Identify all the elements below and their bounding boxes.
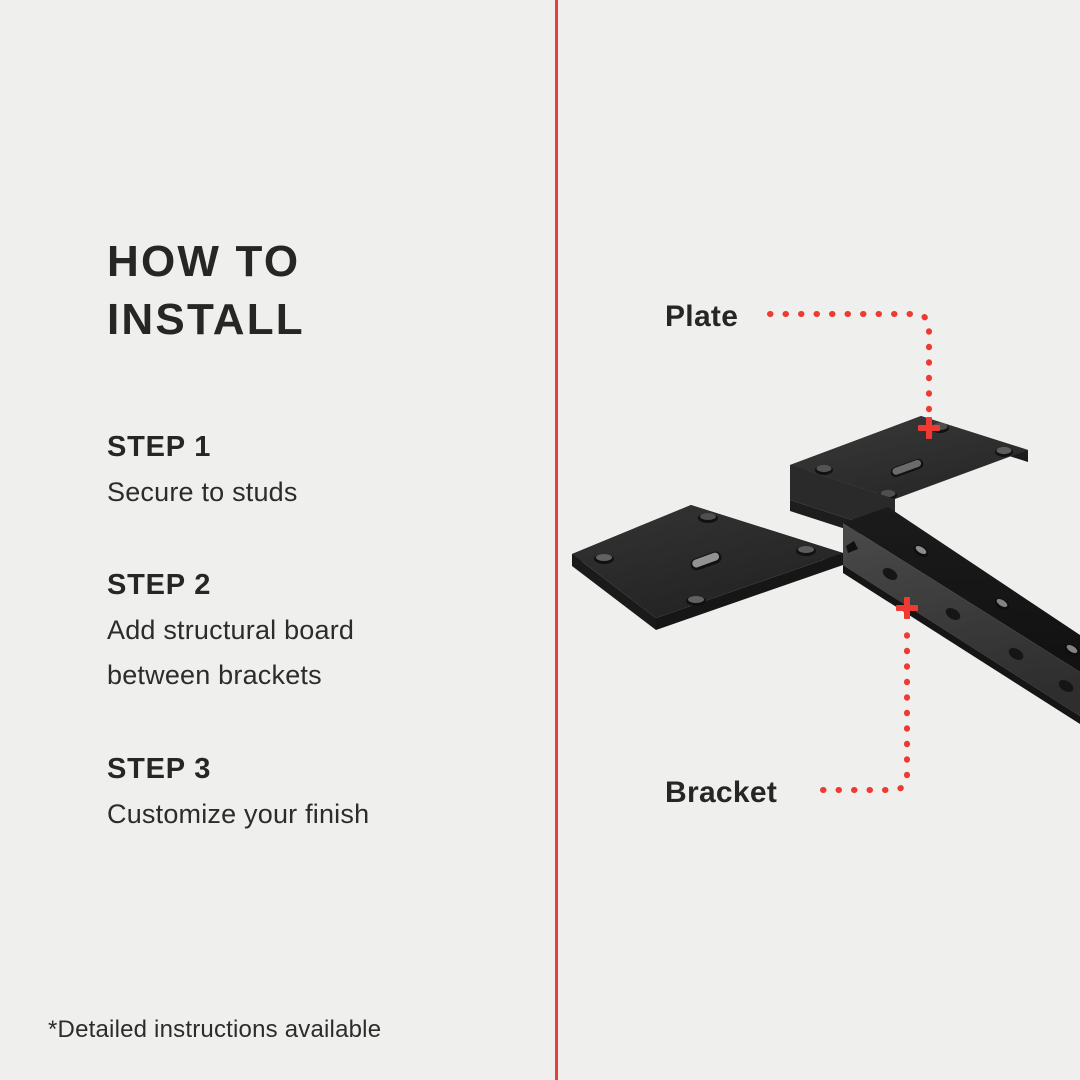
product-panel: Plate Bracket — [558, 0, 1080, 1080]
angle-beam — [843, 507, 1080, 724]
step-2-description: Add structural board between brackets — [107, 608, 537, 698]
mounting-plate-lower — [572, 505, 843, 630]
step-1-title: STEP 1 — [107, 428, 537, 466]
step-3-title: STEP 3 — [107, 750, 537, 788]
step-item-2: STEP 2 Add structural board between brac… — [107, 566, 537, 698]
callout-label-bracket: Bracket — [665, 776, 777, 810]
footnote: *Detailed instructions available — [48, 1016, 381, 1044]
how-to-install-infographic: HOW TO INSTALL STEP 1 Secure to studs ST… — [0, 0, 1080, 1080]
instructions-panel: HOW TO INSTALL STEP 1 Secure to studs ST… — [0, 0, 555, 1080]
step-item-3: STEP 3 Customize your finish — [107, 750, 537, 837]
step-3-description: Customize your finish — [107, 792, 537, 837]
bracket-product-illustration — [558, 0, 1080, 1080]
callout-label-plate: Plate — [665, 300, 738, 334]
page-title: HOW TO INSTALL — [107, 233, 527, 349]
step-1-description: Secure to studs — [107, 470, 537, 515]
step-item-1: STEP 1 Secure to studs — [107, 428, 537, 515]
step-2-title: STEP 2 — [107, 566, 537, 604]
